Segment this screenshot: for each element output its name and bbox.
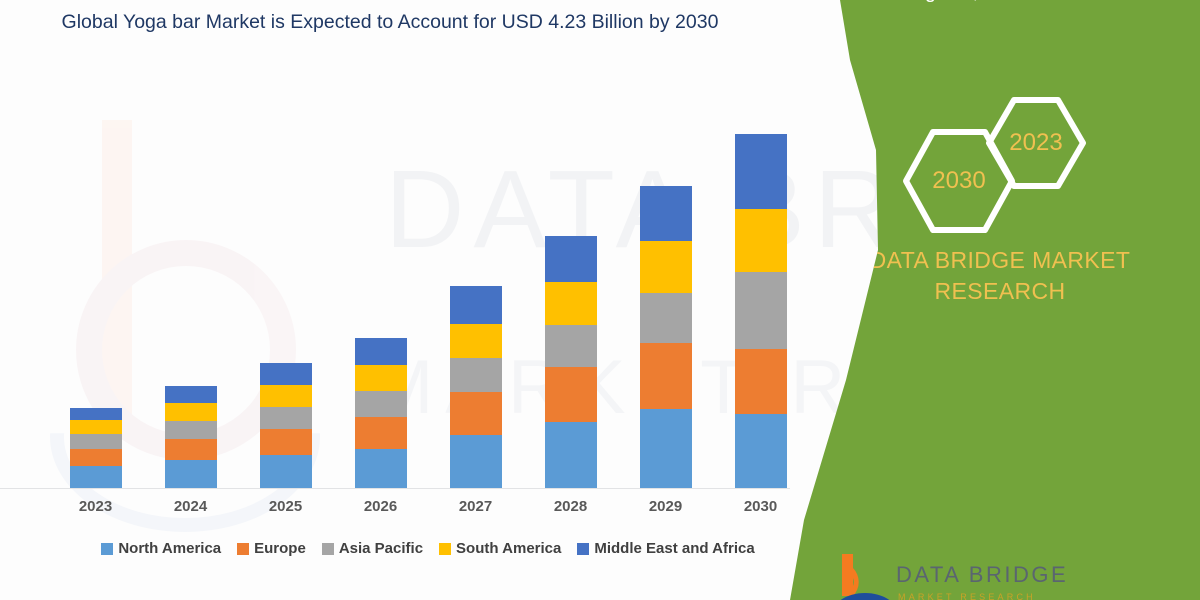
bar-segment [260,407,312,429]
data-bridge-logo: DATA BRIDGE MARKET RESEARCH [838,548,1098,600]
bar-segment [355,449,407,488]
x-axis-line [0,488,790,489]
bar-column [716,92,806,488]
bar-segment [450,358,502,391]
bar-segment [260,385,312,407]
chart-panel: DATA BRIDGE MARKET RESEARCH Global Yoga … [0,0,880,600]
x-axis-tick-label: 2024 [146,498,236,515]
bar-column [336,92,426,488]
bar-segment [735,272,787,349]
bar-segment [450,435,502,488]
stacked-bar [260,363,312,488]
stacked-bar [545,236,597,488]
bar-segment [450,286,502,324]
bar-column [146,92,236,488]
hexagon-group: 2030 2023 [890,95,1130,235]
legend-swatch-icon [237,543,249,555]
bar-segment [70,434,122,448]
bar-column [621,92,711,488]
legend-swatch-icon [101,543,113,555]
bar-segment [355,338,407,365]
bar-segment [165,439,217,461]
hexagon-start-year-label: 2023 [1009,129,1062,157]
bar-segment [165,403,217,421]
bar-column [431,92,521,488]
bar-segment [70,449,122,467]
legend-item[interactable]: Middle East and Africa [577,540,754,557]
legend-swatch-icon [322,543,334,555]
bar-segment [165,460,217,488]
bar-segment [545,367,597,422]
plot-area [48,92,808,488]
bar-column [526,92,616,488]
bar-segment [165,421,217,439]
legend-swatch-icon [577,543,589,555]
chart-legend: North AmericaEuropeAsia PacificSouth Ame… [48,540,808,557]
bar-segment [735,134,787,209]
bar-segment [735,349,787,414]
legend-item[interactable]: South America [439,540,561,557]
stacked-bar [450,286,502,488]
bar-segment [70,408,122,421]
logo-text: DATA BRIDGE [896,562,1068,588]
bar-segment [735,414,787,488]
bar-segment [640,293,692,343]
bar-segment [735,209,787,272]
stacked-bar [640,186,692,488]
bar-segment [450,392,502,436]
bar-segment [260,429,312,455]
bar-segment [545,325,597,367]
bar-segment [450,324,502,358]
bridge-logo-icon [838,552,892,600]
chart-title: Global Yoga bar Market is Expected to Ac… [60,8,720,37]
legend-label: South America [456,540,561,557]
bar-segment [70,466,122,488]
logo-subtext: MARKET RESEARCH [898,592,1036,600]
stacked-bar [355,338,407,488]
stacked-bar [165,386,217,488]
legend-label: Asia Pacific [339,540,423,557]
x-axis-labels: 20232024202520262027202820292030 [48,498,808,515]
bar-segment [640,186,692,241]
legend-item[interactable]: Europe [237,540,306,557]
legend-item[interactable]: North America [101,540,221,557]
bar-segment [640,241,692,293]
stacked-bar [735,134,787,488]
legend-label: Middle East and Africa [594,540,754,557]
x-axis-tick-label: 2025 [241,498,331,515]
bar-segment [355,391,407,417]
bar-segment [260,363,312,385]
x-axis-tick-label: 2030 [716,498,806,515]
bar-segment [355,417,407,449]
legend-label: Europe [254,540,306,557]
legend-item[interactable]: Asia Pacific [322,540,423,557]
bar-segment [545,282,597,325]
x-axis-tick-label: 2029 [621,498,711,515]
x-axis-tick-label: 2027 [431,498,521,515]
bar-segment [545,236,597,282]
bar-column [51,92,141,488]
bar-segment [640,409,692,488]
bar-segment [260,455,312,488]
x-axis-tick-label: 2028 [526,498,616,515]
bar-column [241,92,331,488]
bar-segment [70,420,122,434]
hexagon-start-year: 2023 [984,95,1088,191]
bar-segment [165,386,217,403]
x-axis-tick-label: 2026 [336,498,426,515]
x-axis-tick-label: 2023 [51,498,141,515]
bar-segment [640,343,692,409]
bar-segment [355,365,407,391]
legend-label: North America [118,540,221,557]
hexagon-end-year-label: 2030 [932,167,985,195]
right-panel-title: Regions, 2023 to 2030 [810,0,1190,7]
bar-segment [545,422,597,488]
stacked-bars [48,92,808,488]
infographic-canvas: DATA BRIDGE MARKET RESEARCH Global Yoga … [0,0,1200,600]
legend-swatch-icon [439,543,451,555]
stacked-bar [70,408,122,488]
